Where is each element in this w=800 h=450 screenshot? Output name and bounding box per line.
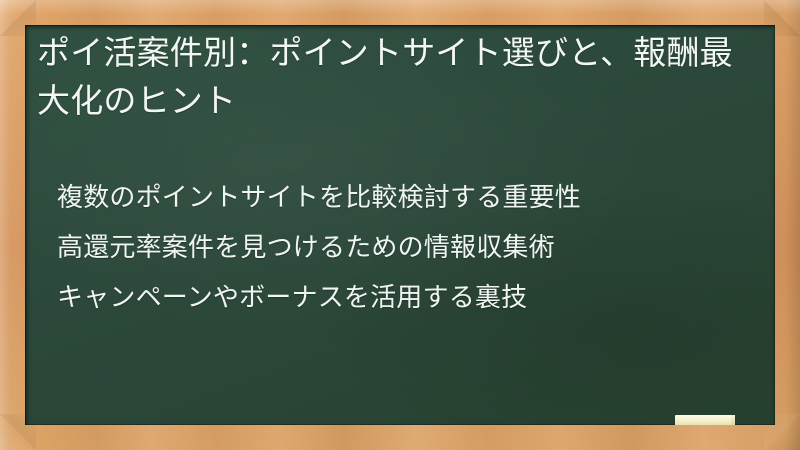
slide-bullet-list: 複数のポイントサイトを比較検討する重要性 高還元率案件を見つけるための情報収集術…: [57, 173, 757, 323]
frame-top-highlight: [0, 0, 800, 14]
chalk-tip: [731, 415, 735, 425]
frame-left-highlight: [0, 0, 10, 450]
slide-screenshot: ポイ活案件別：ポイントサイト選びと、報酬最大化のヒント 複数のポイントサイトを比…: [0, 0, 800, 450]
chalk-stick: [675, 415, 735, 425]
slide-title: ポイ活案件別：ポイントサイト選びと、報酬最大化のヒント: [37, 29, 763, 125]
bullet-item-2: 高還元率案件を見つけるための情報収集術: [57, 223, 757, 273]
bullet-item-1: 複数のポイントサイトを比較検討する重要性: [57, 173, 757, 223]
chalkboard-surface: ポイ活案件別：ポイントサイト選びと、報酬最大化のヒント 複数のポイントサイトを比…: [25, 25, 775, 425]
bullet-item-3: キャンペーンやボーナスを活用する裏技: [57, 273, 757, 323]
frame-right-shadow: [786, 0, 800, 450]
